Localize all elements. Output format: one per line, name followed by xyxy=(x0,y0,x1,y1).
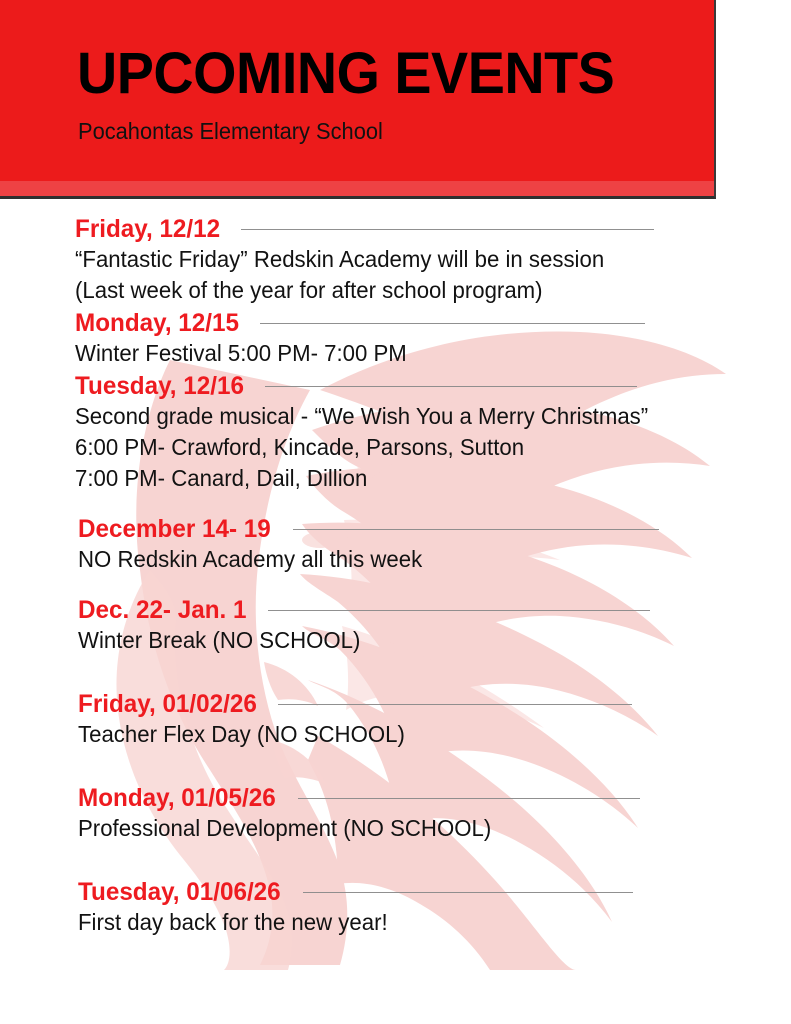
event-detail-lines: Winter Break (NO SCHOOL) xyxy=(78,625,791,656)
event-detail-line: Teacher Flex Day (NO SCHOOL) xyxy=(78,719,766,750)
event-detail-line: “Fantastic Friday” Redskin Academy will … xyxy=(75,244,766,275)
event-detail-lines: Teacher Flex Day (NO SCHOOL) xyxy=(78,719,791,750)
event-block: Tuesday, 01/06/26First day back for the … xyxy=(0,877,791,938)
event-heading-row: Friday, 01/02/26 xyxy=(78,689,791,719)
event-divider-rule xyxy=(293,529,659,530)
event-block: Tuesday, 12/16Second grade musical - “We… xyxy=(0,371,791,494)
event-detail-line: Winter Break (NO SCHOOL) xyxy=(78,625,766,656)
page-title: UPCOMING EVENTS xyxy=(77,44,614,104)
event-detail-line: Professional Development (NO SCHOOL) xyxy=(78,813,766,844)
event-block: December 14- 19NO Redskin Academy all th… xyxy=(0,514,791,575)
event-block: Friday, 01/02/26Teacher Flex Day (NO SCH… xyxy=(0,689,791,750)
event-heading-row: Friday, 12/12 xyxy=(75,214,791,244)
school-name: Pocahontas Elementary School xyxy=(78,118,383,144)
event-detail-line: NO Redskin Academy all this week xyxy=(78,544,766,575)
event-block: Dec. 22- Jan. 1Winter Break (NO SCHOOL) xyxy=(0,595,791,656)
event-block: Monday, 12/15Winter Festival 5:00 PM- 7:… xyxy=(0,308,791,369)
header-red-block: UPCOMING EVENTS Pocahontas Elementary Sc… xyxy=(0,0,716,181)
event-detail-line: 7:00 PM- Canard, Dail, Dillion xyxy=(75,463,766,494)
event-detail-line: (Last week of the year for after school … xyxy=(75,275,766,306)
event-heading-row: Monday, 01/05/26 xyxy=(78,783,791,813)
event-date-heading: December 14- 19 xyxy=(78,515,271,543)
event-detail-lines: “Fantastic Friday” Redskin Academy will … xyxy=(75,244,791,306)
event-detail-line: 6:00 PM- Crawford, Kincade, Parsons, Sut… xyxy=(75,432,766,463)
event-date-heading: Monday, 12/15 xyxy=(75,309,239,337)
event-heading-row: December 14- 19 xyxy=(78,514,791,544)
event-divider-rule xyxy=(303,892,633,893)
event-detail-lines: Second grade musical - “We Wish You a Me… xyxy=(75,401,791,494)
event-divider-rule xyxy=(260,323,645,324)
event-divider-rule xyxy=(268,610,650,611)
event-heading-row: Dec. 22- Jan. 1 xyxy=(78,595,791,625)
event-block: Friday, 12/12“Fantastic Friday” Redskin … xyxy=(0,214,791,306)
event-date-heading: Friday, 12/12 xyxy=(75,215,220,243)
event-detail-line: Second grade musical - “We Wish You a Me… xyxy=(75,401,766,432)
header-accent-strip xyxy=(0,181,716,199)
event-divider-rule xyxy=(241,229,654,230)
event-detail-lines: Winter Festival 5:00 PM- 7:00 PM xyxy=(75,338,791,369)
upcoming-events-flyer: UPCOMING EVENTS Pocahontas Elementary Sc… xyxy=(0,0,791,1024)
event-divider-rule xyxy=(278,704,632,705)
events-list: Friday, 12/12“Fantastic Friday” Redskin … xyxy=(0,214,791,938)
event-detail-lines: NO Redskin Academy all this week xyxy=(78,544,791,575)
event-date-heading: Tuesday, 01/06/26 xyxy=(78,878,281,906)
event-detail-line: Winter Festival 5:00 PM- 7:00 PM xyxy=(75,338,766,369)
event-date-heading: Monday, 01/05/26 xyxy=(78,784,276,812)
event-date-heading: Friday, 01/02/26 xyxy=(78,690,257,718)
event-detail-lines: First day back for the new year! xyxy=(78,907,791,938)
flyer-header: UPCOMING EVENTS Pocahontas Elementary Sc… xyxy=(0,0,716,199)
event-divider-rule xyxy=(265,386,637,387)
event-detail-lines: Professional Development (NO SCHOOL) xyxy=(78,813,791,844)
event-date-heading: Tuesday, 12/16 xyxy=(75,372,244,400)
event-heading-row: Monday, 12/15 xyxy=(75,308,791,338)
event-heading-row: Tuesday, 01/06/26 xyxy=(78,877,791,907)
event-heading-row: Tuesday, 12/16 xyxy=(75,371,791,401)
event-date-heading: Dec. 22- Jan. 1 xyxy=(78,596,247,624)
event-divider-rule xyxy=(298,798,640,799)
event-detail-line: First day back for the new year! xyxy=(78,907,766,938)
event-block: Monday, 01/05/26Professional Development… xyxy=(0,783,791,844)
